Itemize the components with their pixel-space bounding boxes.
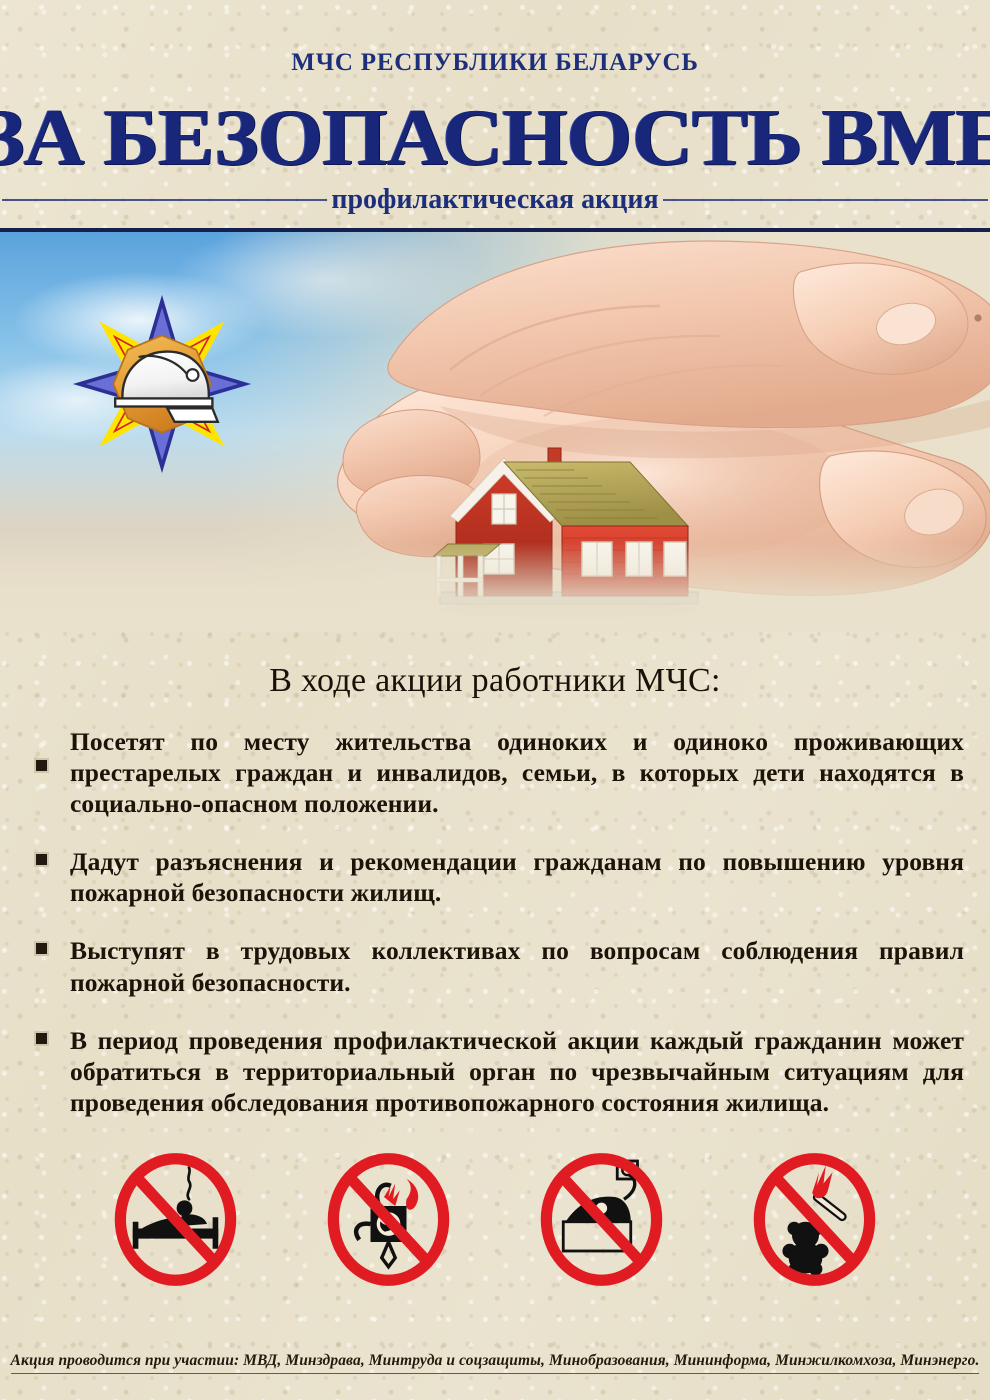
no-smoking-in-bed-icon: [108, 1152, 243, 1287]
list-item-text: Выступят в трудовых коллективах по вопро…: [70, 936, 964, 996]
organization-line: МЧС РЕСПУБЛИКИ БЕЛАРУСЬ: [0, 50, 990, 75]
poster-sheet: МЧС РЕСПУБЛИКИ БЕЛАРУСЬ ЗА БЕЗОПАСНОСТЬ …: [0, 0, 990, 1400]
list-item: Дадут разъяснения и рекомендации граждан…: [26, 846, 964, 908]
rule-right: [663, 199, 988, 201]
bullet-marker: [34, 852, 49, 867]
main-content: В ходе акции работники МЧС: Посетят по м…: [0, 662, 990, 1287]
footer-text: Акция проводится при участии: МВД, Минзд…: [11, 1352, 980, 1374]
safety-icons-row: [26, 1152, 964, 1287]
mchs-emblem-icon: [72, 294, 252, 474]
list-item-text: Дадут разъяснения и рекомендации граждан…: [70, 847, 964, 907]
list-item: Выступят в трудовых коллективах по вопро…: [26, 935, 964, 997]
bullet-marker: [34, 758, 49, 773]
subtitle: профилактическая акция: [327, 184, 662, 216]
list-item-text: В период проведения профилактической акц…: [70, 1026, 964, 1117]
rule-left: [2, 199, 327, 201]
list-item-text: Посетят по месту жительства одиноких и о…: [70, 727, 964, 818]
bullet-marker: [34, 1031, 49, 1046]
subtitle-row: профилактическая акция: [0, 184, 990, 216]
poster-masthead: МЧС РЕСПУБЛИКИ БЕЛАРУСЬ ЗА БЕЗОПАСНОСТЬ …: [0, 0, 990, 216]
list-item: В период проведения профилактической акц…: [26, 1025, 964, 1118]
lead-heading: В ходе акции работники МЧС:: [26, 662, 964, 700]
no-children-with-matches-icon: [747, 1152, 882, 1287]
bullet-marker: [34, 941, 49, 956]
no-faulty-electrical-socket-icon: [321, 1152, 456, 1287]
photo-bottom-fade: [0, 542, 990, 632]
footer: Акция проводится при участии: МВД, Минзд…: [0, 1352, 990, 1374]
hero-photo: [0, 228, 990, 632]
list-item: Посетят по месту жительства одиноких и о…: [26, 726, 964, 819]
action-points-list: Посетят по месту жительства одиноких и о…: [26, 726, 964, 1118]
no-unattended-iron-icon: [534, 1152, 669, 1287]
page-title: ЗА БЕЗОПАСНОСТЬ ВМЕСТЕ!: [0, 99, 990, 176]
